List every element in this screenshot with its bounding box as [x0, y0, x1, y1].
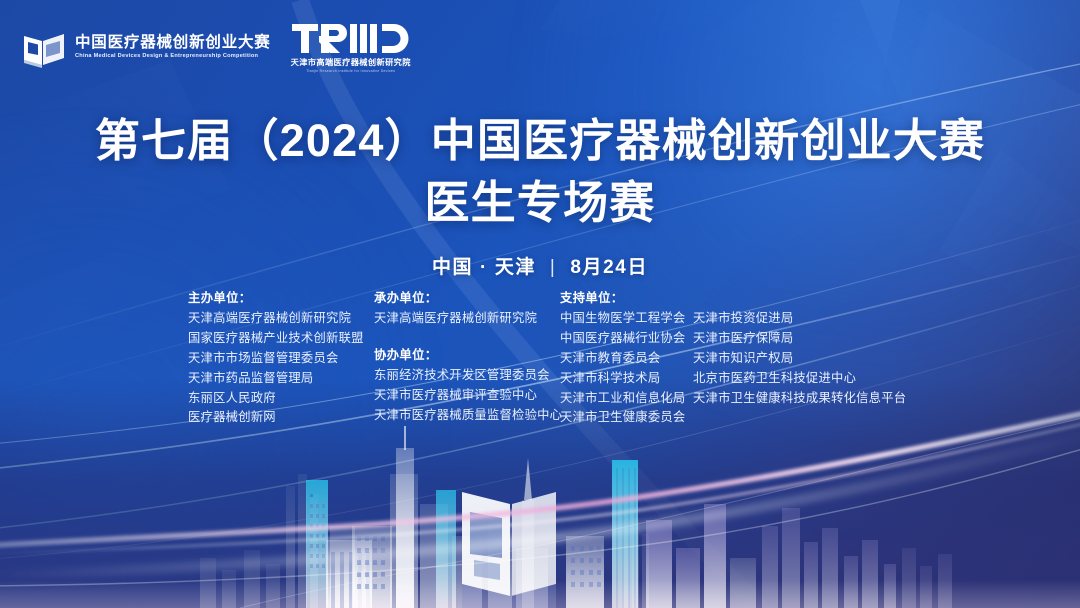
org-item: 天津市医疗保障局: [693, 329, 913, 349]
logo-triid-en: Tianjin Research Institute for Innovativ…: [306, 70, 395, 74]
org-item: 医疗器械创新网: [188, 408, 374, 428]
org-item: 北京市医药卫生科技促进中心: [693, 369, 913, 389]
org-item: 天津市医疗器械审评查验中心: [374, 386, 560, 406]
org-heading-host: 主办单位：: [188, 289, 374, 309]
org-item: 天津市市场监督管理委员会: [188, 349, 374, 369]
poster-canvas: 中国医疗器械创新创业大赛 China Medical Devices Desig…: [0, 0, 1080, 608]
logo-china-medical-device-competition[interactable]: 中国医疗器械创新创业大赛 China Medical Devices Desig…: [22, 27, 271, 69]
org-column-spacer: [374, 329, 560, 346]
event-dateline: 中国 · 天津 | 8月24日: [0, 252, 1080, 279]
org-item: 天津市教育委员会: [560, 349, 693, 369]
page-title-line2: 医生专场赛: [0, 175, 1080, 232]
org-item: 天津市科学技术局: [560, 369, 693, 389]
page-title-line1: 第七届（2024）中国医疗器械创新创业大赛: [0, 112, 1080, 171]
logo-primary-en: China Medical Devices Design & Entrepren…: [75, 54, 271, 60]
org-item: 中国生物医学工程学会: [560, 309, 693, 329]
org-item: 天津市药品监督管理局: [188, 369, 374, 389]
org-item: 天津市工业和信息化局: [560, 389, 693, 409]
logo-triid[interactable]: 天津市高端医疗器械创新研究院 Tianjin Research Institut…: [291, 22, 411, 73]
logo-triid-cn: 天津市高端医疗器械创新研究院: [291, 59, 411, 67]
org-item: 天津高端医疗器械创新研究院: [188, 309, 374, 329]
hero-title-block: 第七届（2024）中国医疗器械创新创业大赛 医生专场赛 中国 · 天津 | 8月…: [0, 112, 1080, 279]
org-item: 天津市知识产权局: [693, 349, 913, 369]
event-location: 中国 · 天津: [432, 257, 536, 278]
org-item: 东丽经济技术开发区管理委员会: [374, 366, 560, 386]
org-item: 天津市医疗器械质量监督检验中心: [374, 406, 560, 426]
org-item: 中国医疗器械行业协会: [560, 329, 693, 349]
org-item: 天津市卫生健康委员会: [560, 408, 693, 428]
org-column-host: 主办单位： 天津高端医疗器械创新研究院 国家医疗器械产业技术创新联盟 天津市市场…: [188, 289, 374, 428]
city-skyline-silhouette: [0, 408, 1080, 608]
org-column-support-a: 支持单位： 中国生物医学工程学会 中国医疗器械行业协会 天津市教育委员会 天津市…: [560, 289, 693, 428]
open-door-logo-icon: [22, 27, 66, 69]
org-heading-support: 支持单位：: [560, 289, 693, 309]
org-column-support-b: 天津市投资促进局 天津市医疗保障局 天津市知识产权局 北京市医药卫生科技促进中心…: [693, 289, 913, 428]
org-item: 东丽区人民政府: [188, 389, 374, 409]
logo-primary-cn: 中国医疗器械创新创业大赛: [75, 35, 271, 51]
logo-primary-text: 中国医疗器械创新创业大赛 China Medical Devices Desig…: [75, 35, 271, 60]
organizations-block: 主办单位： 天津高端医疗器械创新研究院 国家医疗器械产业技术创新联盟 天津市市场…: [188, 289, 913, 428]
org-heading-coorganizer: 协办单位：: [374, 346, 560, 366]
org-heading-support-continued: [693, 289, 913, 309]
dateline-separator: |: [550, 257, 557, 279]
org-item: 天津市投资促进局: [693, 309, 913, 329]
event-date: 8月24日: [570, 257, 648, 278]
org-heading-organizer: 承办单位：: [374, 289, 560, 309]
org-item: 天津市卫生健康科技成果转化信息平台: [693, 389, 913, 409]
header-logos: 中国医疗器械创新创业大赛 China Medical Devices Desig…: [22, 22, 411, 73]
triid-wordmark-icon: [292, 22, 410, 55]
org-item: 国家医疗器械产业技术创新联盟: [188, 329, 374, 349]
org-item: 天津高端医疗器械创新研究院: [374, 309, 560, 329]
org-column-organizer: 承办单位： 天津高端医疗器械创新研究院 协办单位： 东丽经济技术开发区管理委员会…: [374, 289, 560, 428]
